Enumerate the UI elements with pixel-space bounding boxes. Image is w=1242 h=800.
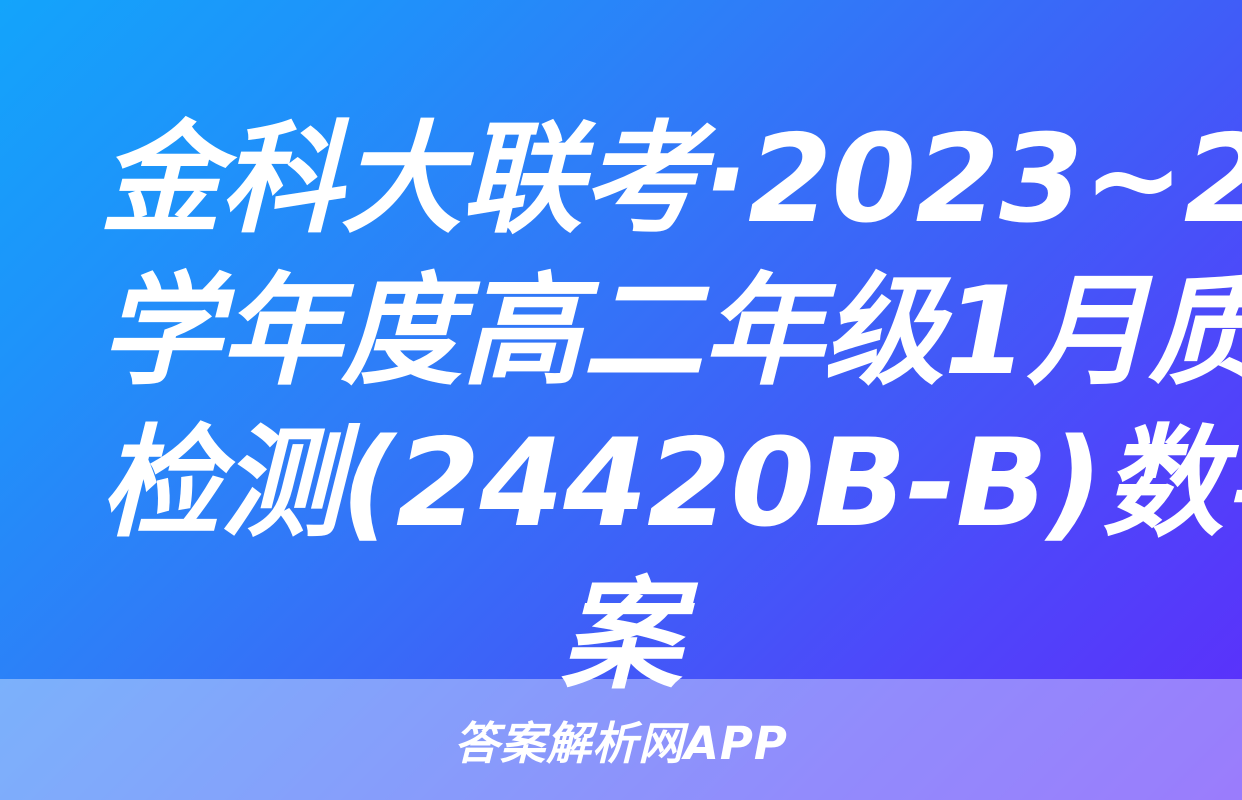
- title-line-3: 检测(24420B-B)数学答: [100, 408, 1142, 560]
- title-glyph: 数: [1102, 408, 1223, 560]
- title-glyph: 考: [582, 104, 703, 256]
- title-glyph: B: [814, 408, 906, 560]
- title-glyph: 0: [731, 408, 815, 560]
- title-glyph: 0: [832, 104, 916, 256]
- title-glyph: 年: [221, 256, 342, 408]
- title-glyph: 质: [1148, 256, 1242, 408]
- title-glyph: 级: [823, 256, 944, 408]
- title-glyph: 3: [999, 104, 1083, 256]
- title-glyph: 大: [341, 104, 462, 256]
- title-glyph: 学: [1223, 408, 1242, 560]
- title-glyph: 测: [221, 408, 342, 560]
- poster-canvas: 金科大联考·2023~2024 学年度高二年级1月质量 检测(24420B-B)…: [0, 0, 1242, 800]
- title-glyph: 2: [1184, 104, 1242, 256]
- title-glyph: 1: [944, 256, 1028, 408]
- title-glyph: 高: [462, 256, 583, 408]
- title-glyph: 2: [915, 104, 999, 256]
- poster-title: 金科大联考·2023~2024 学年度高二年级1月质量 检测(24420B-B)…: [100, 104, 1142, 679]
- title-glyph: 2: [748, 104, 832, 256]
- title-glyph: 年: [703, 256, 824, 408]
- title-glyph: ·: [703, 104, 748, 256]
- title-glyph: 联: [462, 104, 583, 256]
- title-glyph: 度: [341, 256, 462, 408]
- app-promo-bar[interactable]: 答案解析网APP: [0, 679, 1242, 800]
- app-promo-label: 答案解析网APP: [454, 707, 788, 772]
- title-glyph: B: [956, 408, 1048, 560]
- title-glyph: 4: [480, 408, 564, 560]
- title-glyph: 2: [647, 408, 731, 560]
- title-glyph: ~: [1083, 104, 1184, 256]
- title-glyph: (: [341, 408, 396, 560]
- title-glyph: 4: [563, 408, 647, 560]
- title-glyph: 二: [582, 256, 703, 408]
- title-glyph: 学: [100, 256, 221, 408]
- title-glyph: 金: [100, 104, 221, 256]
- title-line-2: 学年度高二年级1月质量: [100, 256, 1142, 408]
- title-glyph: ): [1048, 408, 1103, 560]
- title-glyph: 检: [100, 408, 221, 560]
- title-glyph: 2: [396, 408, 480, 560]
- title-glyph: 月: [1027, 256, 1148, 408]
- title-line-1: 金科大联考·2023~2024: [100, 104, 1142, 256]
- title-glyph: -: [906, 408, 956, 560]
- title-glyph: 科: [221, 104, 342, 256]
